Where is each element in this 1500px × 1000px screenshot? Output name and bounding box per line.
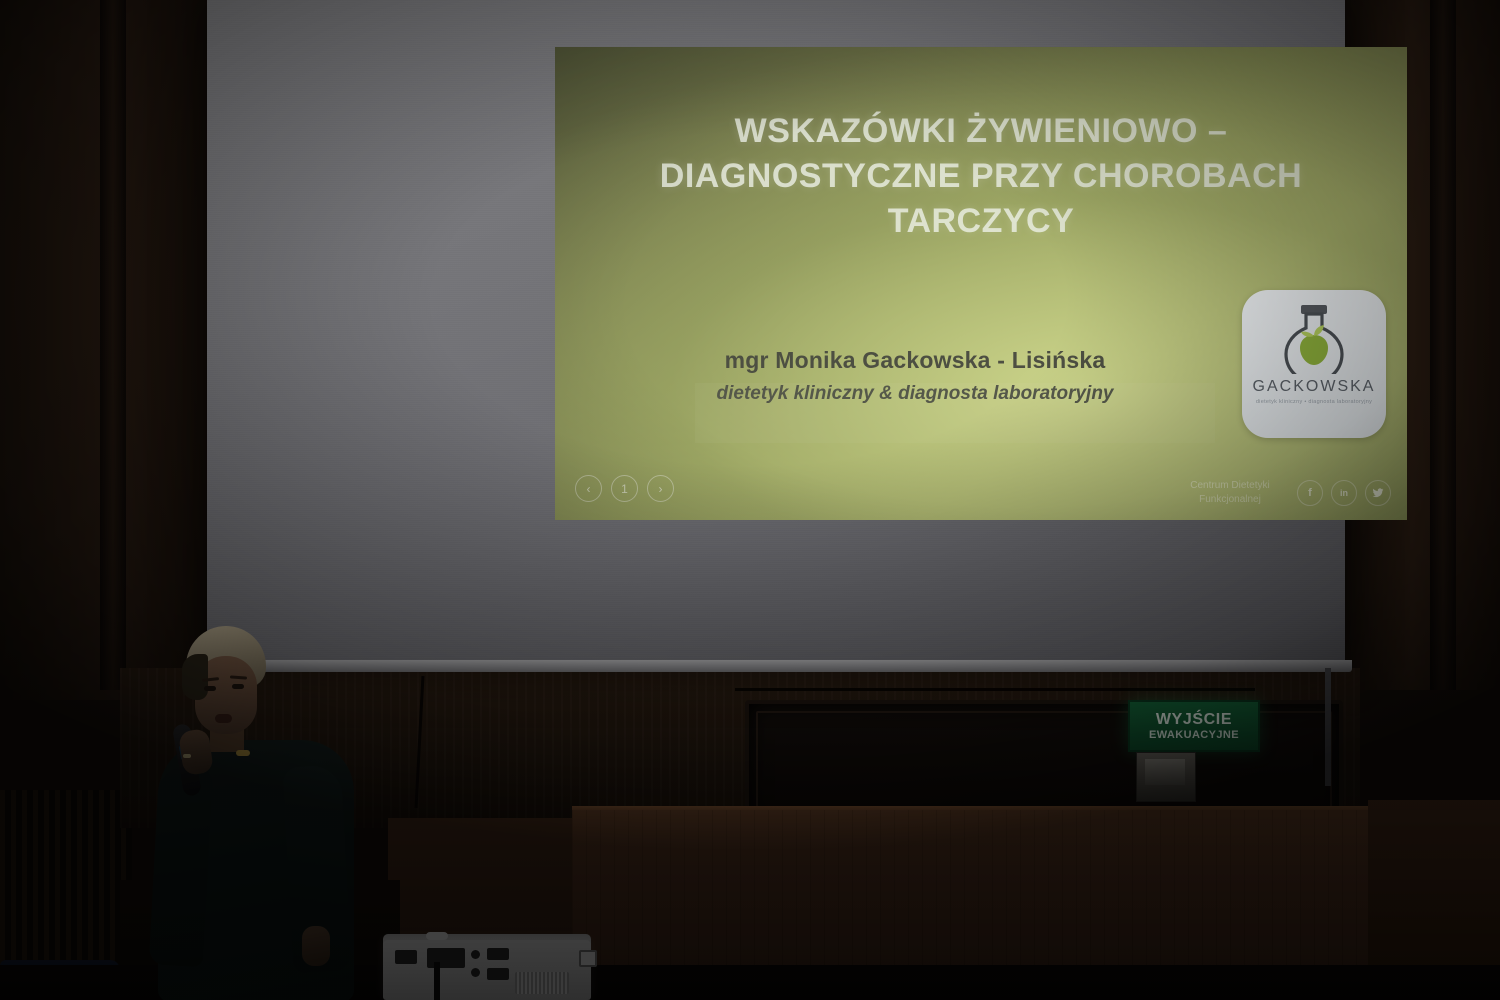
- presenter: [148, 626, 360, 1000]
- projector-port-rca-2: [471, 968, 480, 977]
- screen-support-right: [1325, 668, 1331, 786]
- presenter-name: mgr Monika Gackowska - Lisińska: [615, 347, 1215, 374]
- presenter-hair-side: [182, 654, 208, 700]
- social-links[interactable]: f in: [1297, 480, 1391, 506]
- presenter-mouth: [215, 714, 232, 723]
- slide-navigation[interactable]: ‹ 1 ›: [575, 475, 674, 502]
- wood-column-right: [1430, 0, 1456, 690]
- screen-bottom-bar: [200, 660, 1352, 672]
- presenter-eye-right: [232, 684, 244, 689]
- projector-port-vga-1: [487, 948, 509, 960]
- prev-slide-button[interactable]: ‹: [575, 475, 602, 502]
- presenter-eye-left: [204, 686, 216, 691]
- exit-pictogram: [1145, 759, 1185, 785]
- exit-sign-housing: [1136, 752, 1196, 802]
- projector: [383, 940, 591, 1000]
- exit-sign-line-1: WYJŚCIE: [1156, 711, 1232, 729]
- footer-brand: Centrum Dietetyki Funkcjonalnej: [1175, 479, 1285, 506]
- projector-port-power: [395, 950, 417, 964]
- presenter-left-arm: [149, 765, 213, 968]
- projector-port-lan: [579, 950, 597, 967]
- presenter-hand-right: [302, 926, 330, 966]
- radiator-vent-panel: [0, 790, 132, 965]
- projector-port-vga-2: [487, 968, 509, 980]
- exit-sign-line-2: EWAKUACYJNE: [1149, 729, 1239, 741]
- slide-title-line-2: DIAGNOSTYCZNE PRZY CHOROBACH: [595, 154, 1367, 199]
- slide-title-line-3: TARCZYCY: [595, 199, 1367, 244]
- projection-screen: WSKAZÓWKI ŻYWIENIOWO – DIAGNOSTYCZNE PRZ…: [207, 0, 1345, 668]
- slide-title-line-1: WSKAZÓWKI ŻYWIENIOWO –: [595, 109, 1367, 154]
- next-slide-button[interactable]: ›: [647, 475, 674, 502]
- projector-port-rca-1: [471, 950, 480, 959]
- presenter-role: dietetyk kliniczny & diagnosta laborator…: [615, 383, 1215, 405]
- projector-vent: [515, 972, 569, 994]
- presenter-necklace: [236, 750, 250, 756]
- projector-port-vga-cable: [427, 948, 465, 968]
- projector-cable: [434, 962, 440, 1000]
- wall-cable-horizontal: [735, 688, 1255, 691]
- presentation-slide: WSKAZÓWKI ŻYWIENIOWO – DIAGNOSTYCZNE PRZ…: [555, 47, 1407, 520]
- facebook-icon[interactable]: f: [1297, 480, 1323, 506]
- lecture-hall-photo: WSKAZÓWKI ŻYWIENIOWO – DIAGNOSTYCZNE PRZ…: [0, 0, 1500, 1000]
- wood-column-left: [100, 0, 126, 690]
- slide-title: WSKAZÓWKI ŻYWIENIOWO – DIAGNOSTYCZNE PRZ…: [595, 109, 1367, 245]
- emergency-exit-sign: WYJŚCIE EWAKUACYJNE: [1128, 700, 1260, 752]
- slide-page-indicator[interactable]: 1: [611, 475, 638, 502]
- logo-tagline: dietetyk kliniczny • diagnosta laborator…: [1242, 399, 1386, 405]
- flask-with-apple-icon: [1276, 304, 1352, 374]
- presenter-ring: [183, 754, 191, 758]
- footer-brand-line-2: Funkcjonalnej: [1175, 493, 1285, 507]
- twitter-icon[interactable]: [1365, 480, 1391, 506]
- logo-wordmark: GACKOWSKA: [1242, 378, 1386, 396]
- twitter-bird-glyph: [1372, 487, 1384, 499]
- linkedin-icon[interactable]: in: [1331, 480, 1357, 506]
- projector-focus-dial: [426, 932, 448, 940]
- gackowska-logo: GACKOWSKA dietetyk kliniczny • diagnosta…: [1242, 290, 1386, 438]
- footer-brand-line-1: Centrum Dietetyki: [1175, 479, 1285, 493]
